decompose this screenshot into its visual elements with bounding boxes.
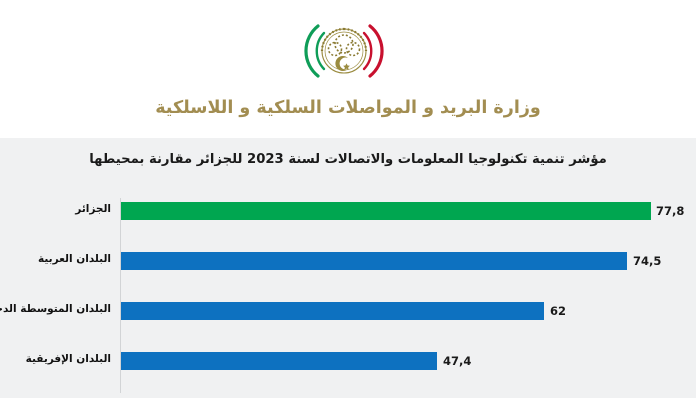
bar-algeria [121, 202, 651, 220]
footer-band [0, 398, 696, 415]
bar-middle-income-countries [121, 302, 544, 320]
ministry-emblem-icon [298, 14, 390, 88]
bar-row: البلدان المتوسطة الدخل 62 [0, 293, 696, 343]
category-label: البلدان الإفريقية [0, 352, 111, 366]
bar-arab-countries [121, 252, 627, 270]
plot-area: الجزائر 77,8 البلدان العربية 74,5 البلدا… [0, 193, 696, 398]
category-label: البلدان المتوسطة الدخل [0, 302, 111, 316]
category-label: الجزائر [0, 202, 111, 216]
value-label: 74,5 [633, 253, 661, 269]
value-label: 77,8 [656, 203, 684, 219]
header-band: وزارة البريد و المواصلات السلكية و اللاس… [0, 0, 696, 138]
value-label: 47,4 [443, 353, 471, 369]
bar-row: البلدان العربية 74,5 [0, 243, 696, 293]
chart-title: مؤشر تنمية تكنولوجيا المعلومات والاتصالا… [8, 152, 688, 167]
chart-panel: مؤشر تنمية تكنولوجيا المعلومات والاتصالا… [0, 138, 696, 398]
bar-african-countries [121, 352, 437, 370]
ministry-title: وزارة البريد و المواصلات السلكية و اللاس… [0, 96, 696, 120]
category-label: البلدان العربية [0, 252, 111, 266]
value-label: 62 [550, 303, 566, 319]
bar-row: البلدان الإفريقية 47,4 [0, 343, 696, 393]
bar-row: الجزائر 77,8 [0, 193, 696, 243]
